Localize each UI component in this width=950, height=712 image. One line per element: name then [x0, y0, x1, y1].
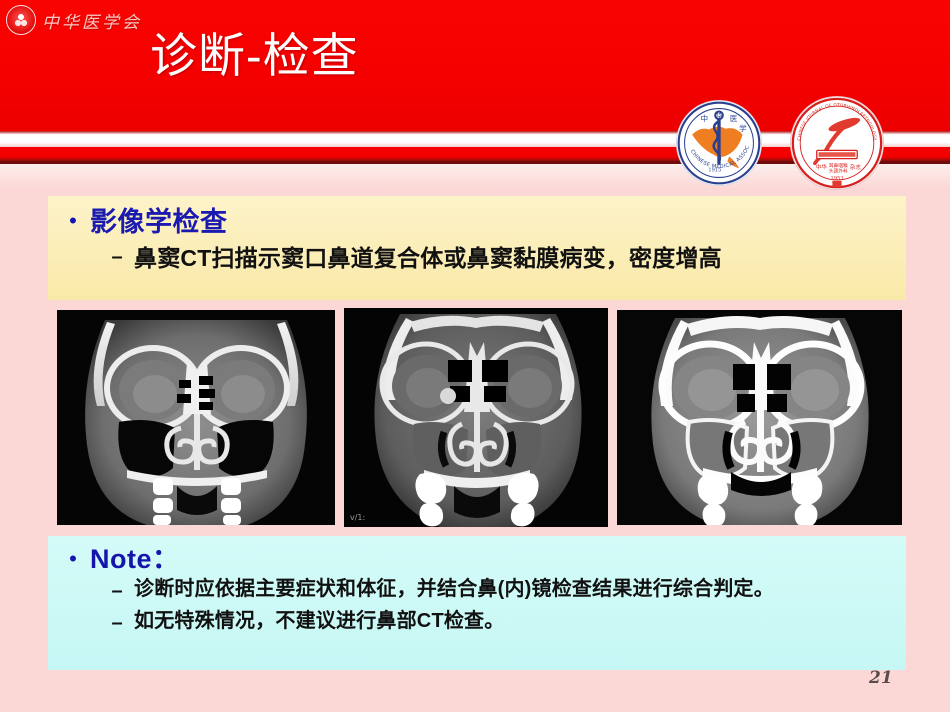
organization-mark: 中华医学会 — [6, 4, 156, 36]
journal-logo-graphic: 中华 耳鼻咽喉 头颈外科 杂志 1953 CHINESE JOURNAL OF … — [791, 97, 883, 189]
chinese-medical-association-logo: 中 华 医 学 1915 CHINESE MEDICAL ASSOCIATION — [676, 100, 762, 186]
svg-text:中: 中 — [701, 113, 709, 123]
svg-text:学: 学 — [739, 123, 747, 133]
imaging-sub-item-text: 鼻窦CT扫描示窦口鼻道复合体或鼻窦黏膜病变，密度增高 — [134, 242, 722, 274]
coronal-sinus-ct-scan-3 — [617, 310, 902, 525]
dash-marker-icon: – — [100, 608, 134, 638]
note-sub-item: – 诊断时应依据主要症状和体征，并结合鼻(内)镜检查结果进行综合判定。 — [100, 576, 906, 606]
svg-text:中华: 中华 — [816, 163, 828, 171]
organization-name: 中华医学会 — [42, 8, 142, 33]
dash-marker-icon: – — [100, 576, 134, 606]
dash-marker-icon: – — [100, 242, 134, 272]
ct-scan-graphic-3 — [617, 310, 902, 525]
imaging-examination-box: • 影像学检查 – 鼻窦CT扫描示窦口鼻道复合体或鼻窦黏膜病变，密度增高 — [48, 196, 906, 300]
note-sub-item-text: 如无特殊情况，不建议进行鼻部CT检查。 — [134, 608, 504, 634]
svg-text:医: 医 — [730, 114, 738, 123]
note-sub-item: – 如无特殊情况，不建议进行鼻部CT检查。 — [100, 608, 906, 638]
svg-text:杂志: 杂志 — [850, 163, 862, 171]
bullet-marker-icon: • — [56, 204, 90, 238]
svg-text:华: 华 — [716, 110, 724, 120]
page-number: 21 — [869, 668, 893, 688]
page-title: 诊断-检查 — [150, 26, 359, 86]
note-box: • Note： – 诊断时应依据主要症状和体征，并结合鼻(内)镜检查结果进行综合… — [48, 536, 906, 670]
note-heading-row: • Note： — [56, 542, 906, 576]
ct-scan-graphic-1 — [57, 310, 335, 525]
note-heading: Note： — [90, 542, 180, 576]
note-sub-item-text: 诊断时应依据主要症状和体征，并结合鼻(内)镜检查结果进行综合判定。 — [134, 576, 774, 602]
coronal-sinus-ct-scan-2: v/1: — [344, 308, 608, 527]
imaging-sub-item: – 鼻窦CT扫描示窦口鼻道复合体或鼻窦黏膜病变，密度增高 — [100, 242, 906, 274]
cma-seal-icon — [6, 5, 36, 35]
svg-text:v/1:: v/1: — [350, 513, 365, 522]
cma-logo-graphic: 中 华 医 学 1915 CHINESE MEDICAL ASSOCIATION — [677, 101, 761, 185]
imaging-heading: 影像学检查 — [90, 204, 228, 240]
bullet-marker-icon: • — [56, 542, 90, 576]
imaging-heading-row: • 影像学检查 — [56, 204, 906, 240]
ct-scan-graphic-2: v/1: — [344, 308, 608, 527]
coronal-sinus-ct-scan-1 — [57, 310, 335, 525]
presentation-slide: 中华医学会 诊断-检查 中 华 医 学 1915 CHINESE MEDICAL… — [0, 0, 950, 712]
chinese-journal-otorhinolaryngology-logo: 中华 耳鼻咽喉 头颈外科 杂志 1953 CHINESE JOURNAL OF … — [790, 96, 884, 190]
